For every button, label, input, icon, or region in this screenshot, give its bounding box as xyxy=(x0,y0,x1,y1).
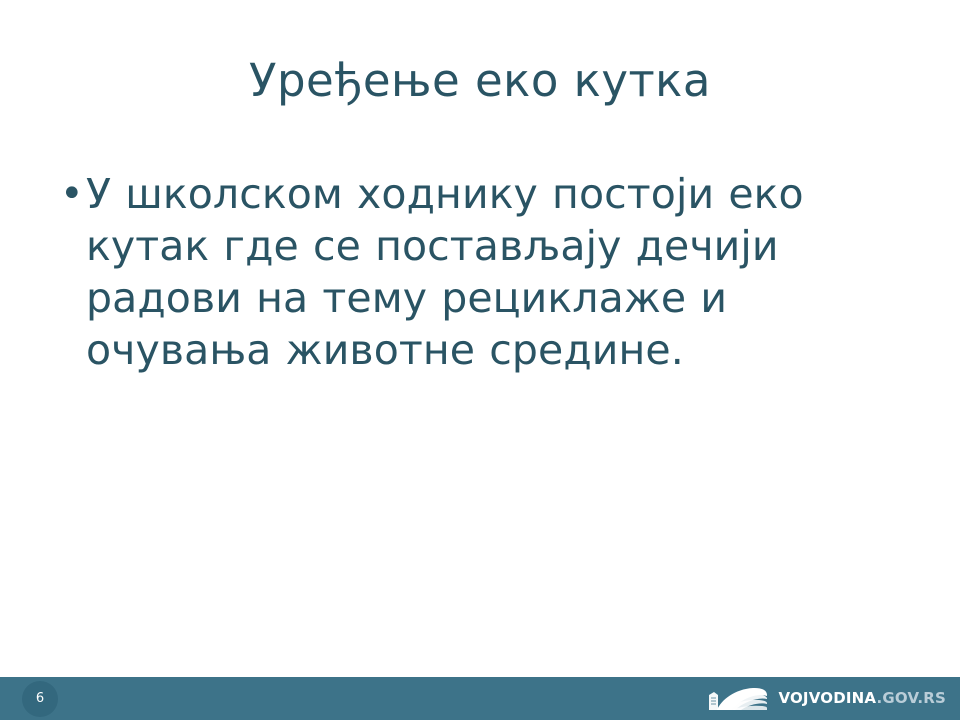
brand-wordmark: VOJVODINA.GOV.RS xyxy=(778,691,946,706)
slide-number-text: 6 xyxy=(36,692,44,705)
slide-canvas: Уређење еко кутка • У школском ходнику п… xyxy=(0,0,960,720)
brand-tld-text: .GOV.RS xyxy=(877,689,947,707)
vojvodina-emblem-icon xyxy=(707,686,769,712)
slide-title-placeholder: Уређење еко кутка xyxy=(60,56,900,106)
list-item: • У школском ходнику постоји еко кутак г… xyxy=(56,168,856,376)
slide-footer-bar: 6 VOJVODINA.GOV.RS xyxy=(0,677,960,720)
page-title: Уређење еко кутка xyxy=(60,56,900,106)
slide-number-badge: 6 xyxy=(22,681,58,717)
brand-logo[interactable]: VOJVODINA.GOV.RS xyxy=(707,686,946,712)
bullet-item-text: У школском ходнику постоји еко кутак где… xyxy=(86,168,826,376)
slide-body-placeholder: • У школском ходнику постоји еко кутак г… xyxy=(56,168,856,376)
brand-name-text: VOJVODINA xyxy=(778,689,876,707)
bullet-point-icon: • xyxy=(56,168,86,220)
